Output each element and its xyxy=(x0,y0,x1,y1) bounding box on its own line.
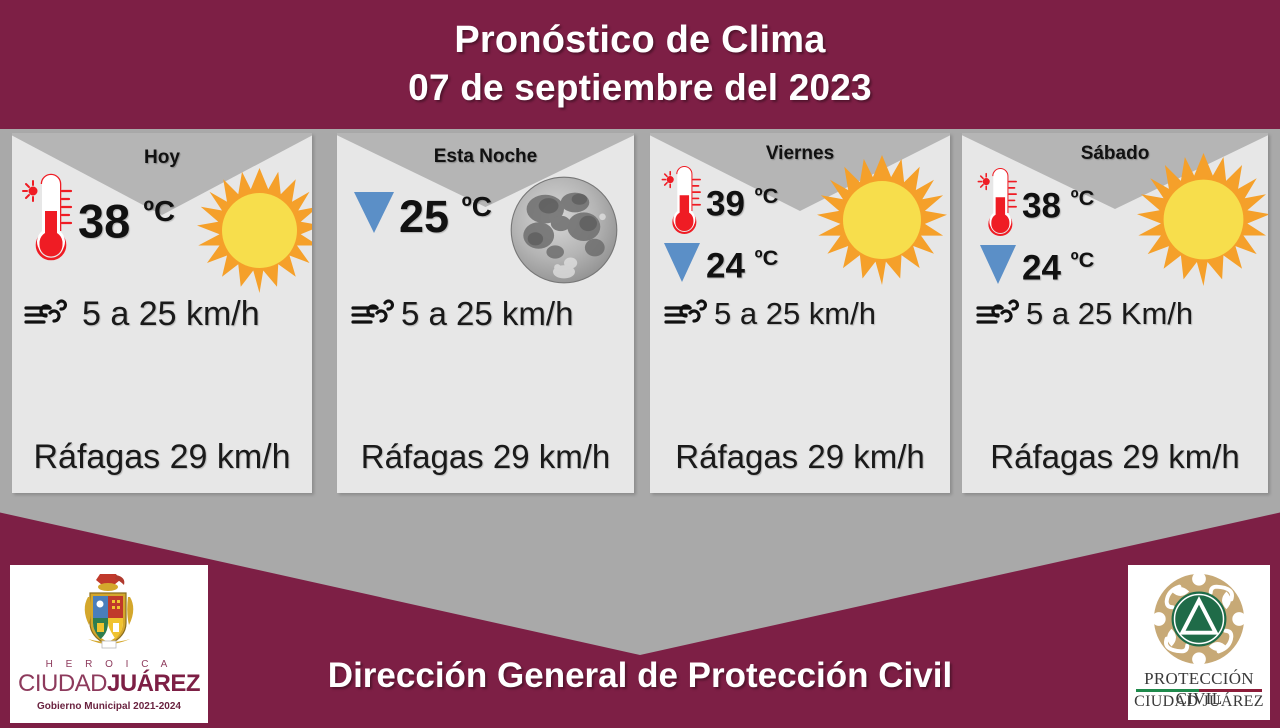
high-temp-value: 38 ºC xyxy=(1022,179,1094,226)
wind-icon xyxy=(351,297,397,331)
wind-value: 5 a 25 Km/h xyxy=(1026,296,1193,332)
forecast-card-esta-noche[interactable]: Esta Noche 25 ºC xyxy=(337,133,634,493)
low-temp-row: 25 ºC xyxy=(351,181,492,243)
wind-value: 5 a 25 km/h xyxy=(401,296,573,332)
high-temp-row: 38 ºC xyxy=(20,169,175,265)
logo-government-label: Gobierno Municipal 2021-2024 xyxy=(10,701,208,712)
forecast-card-sabado[interactable]: Sábado xyxy=(962,133,1268,493)
moon-icon xyxy=(509,175,619,285)
high-temp-value: 38 ºC xyxy=(78,185,175,249)
low-temp-value: 25 ºC xyxy=(399,181,492,243)
low-temp-value: 24 ºC xyxy=(1022,241,1094,288)
logo-heroica-label: H E R O I C A xyxy=(10,659,208,670)
wind-row: 5 a 25 Km/h xyxy=(976,296,1193,332)
low-temp-value: 24 ºC xyxy=(706,239,778,286)
logo-proteccion-civil: PROTECCIÓN CIVIL CIUDAD JUÁREZ xyxy=(1128,565,1270,720)
temperature-area: 38 ºC 24 ºC xyxy=(970,163,1094,288)
gusts-value: Ráfagas 29 km/h xyxy=(337,439,634,475)
wind-icon xyxy=(664,297,710,331)
sun-icon xyxy=(1137,153,1268,286)
wind-row: 5 a 25 km/h xyxy=(664,296,876,332)
low-temp-row: 24 ºC xyxy=(654,239,778,286)
page-title: Pronóstico de Clima 07 de septiembre del… xyxy=(0,16,1280,112)
thermometer-icon xyxy=(20,169,76,265)
high-temp-row: 38 ºC xyxy=(970,163,1094,241)
weather-forecast-infographic: Pronóstico de Clima 07 de septiembre del… xyxy=(0,0,1280,728)
wind-row: 5 a 25 km/h xyxy=(24,296,260,332)
wind-value: 5 a 25 km/h xyxy=(714,296,876,332)
title-line-2: 07 de septiembre del 2023 xyxy=(0,64,1280,112)
wind-row: 5 a 25 km/h xyxy=(351,296,573,332)
sun-icon xyxy=(197,168,312,293)
title-line-1: Pronóstico de Clima xyxy=(0,16,1280,64)
forecast-card-row: Hoy xyxy=(0,133,1280,493)
forecast-card-viernes[interactable]: Viernes xyxy=(650,133,950,493)
gusts-value: Ráfagas 29 km/h xyxy=(650,439,950,475)
low-temp-triangle-icon xyxy=(978,242,1018,286)
high-temp-row: 39 ºC xyxy=(654,161,778,239)
logo-city-label: CIUDADJUÁREZ xyxy=(10,671,208,697)
logo-pc-city: CIUDAD JUÁREZ xyxy=(1128,693,1270,711)
temperature-area: 25 ºC xyxy=(351,181,492,243)
gusts-value: Ráfagas 29 km/h xyxy=(12,439,312,475)
wind-icon xyxy=(976,297,1022,331)
thermometer-icon xyxy=(660,161,704,239)
low-temp-triangle-icon xyxy=(662,240,702,284)
logo-pc-rule xyxy=(1136,689,1262,692)
proteccion-civil-emblem-icon xyxy=(1150,570,1248,668)
gusts-value: Ráfagas 29 km/h xyxy=(962,439,1268,475)
forecast-card-hoy[interactable]: Hoy xyxy=(12,133,312,493)
high-temp-value: 39 ºC xyxy=(706,177,778,224)
sun-icon xyxy=(817,155,947,285)
coat-of-arms-icon xyxy=(72,571,146,655)
wind-value: 5 a 25 km/h xyxy=(82,296,260,332)
wind-icon xyxy=(24,297,70,331)
temperature-area: 38 ºC xyxy=(20,169,175,265)
low-temp-row: 24 ºC xyxy=(970,241,1094,288)
logo-ciudad-juarez: H E R O I C A CIUDADJUÁREZ Gobierno Muni… xyxy=(10,565,208,723)
thermometer-icon xyxy=(976,163,1020,241)
temperature-area: 39 ºC 24 ºC xyxy=(654,161,778,286)
low-temp-triangle-icon xyxy=(351,188,397,236)
